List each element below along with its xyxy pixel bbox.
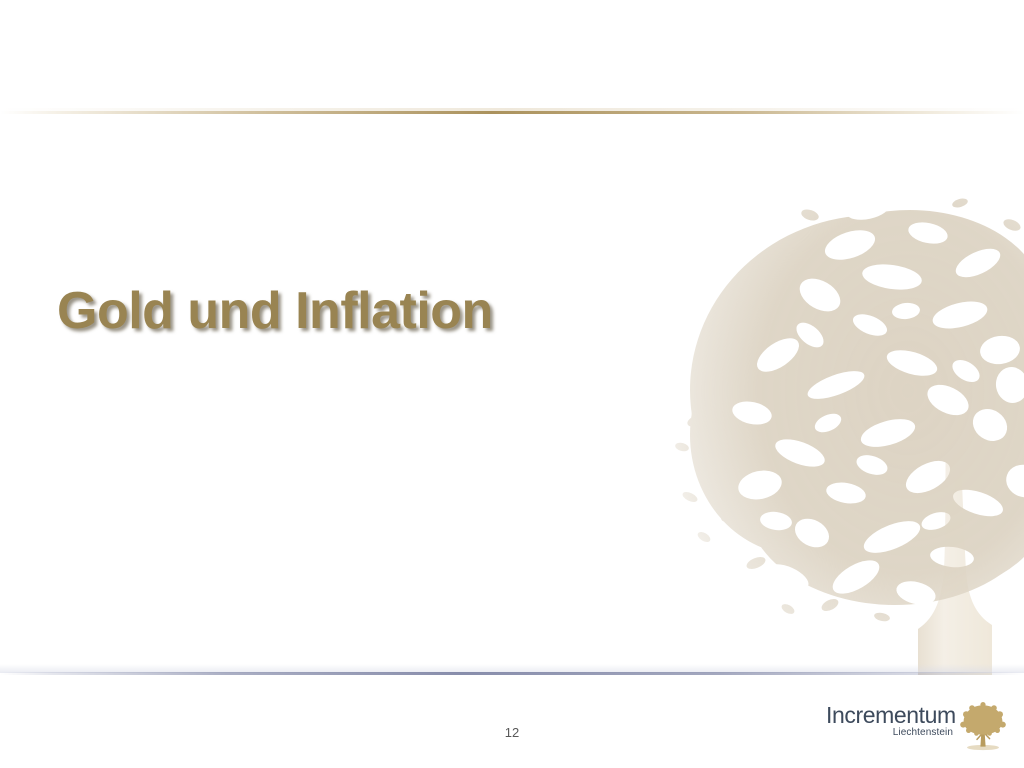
logo-subtitle: Liechtenstein <box>826 727 954 739</box>
divider-top <box>0 111 1024 114</box>
tree-icon <box>956 702 1010 752</box>
tree-trunk <box>918 423 992 675</box>
slide-title: Gold und Inflation <box>57 281 493 341</box>
slide: Gold und Inflation 12 Incrementum Liecht… <box>0 0 1024 768</box>
tree-canopy <box>660 185 1024 675</box>
company-logo: Incrementum Liechtenstein <box>826 703 1016 755</box>
logo-wordmark: Incrementum <box>826 703 954 727</box>
tree-watermark <box>660 185 1024 675</box>
divider-bottom <box>0 672 1024 675</box>
logo-text-block: Incrementum Liechtenstein <box>826 703 954 739</box>
